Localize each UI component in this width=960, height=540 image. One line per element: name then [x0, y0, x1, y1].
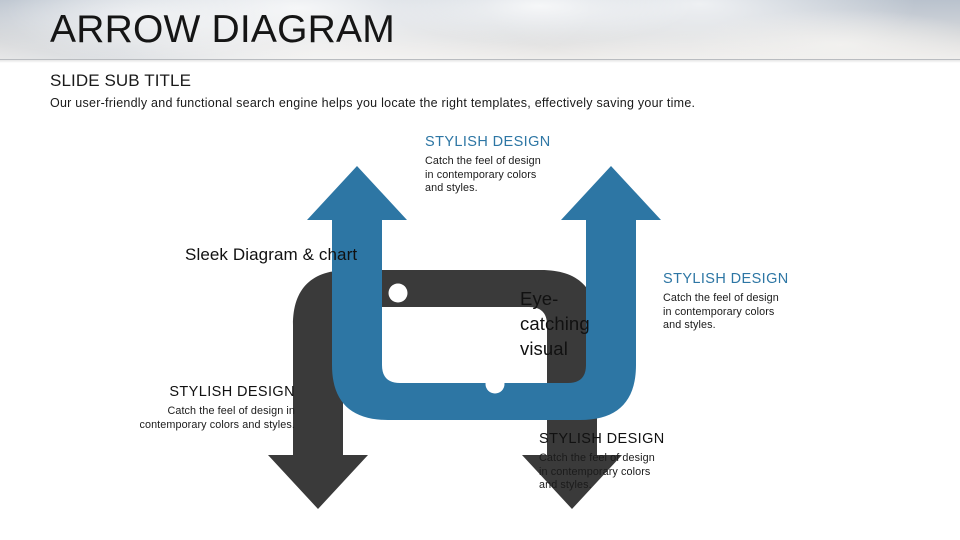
- label-eye-catching-visual: Eye-catching visual: [520, 286, 612, 361]
- callout-bottom-center-body: Catch the feel of design in contemporary…: [539, 452, 663, 493]
- node-lower: [486, 375, 505, 394]
- callout-top-left[interactable]: STYLISH DESIGN Catch the feel of design …: [425, 133, 551, 196]
- page-title: ARROW DIAGRAM: [50, 5, 395, 54]
- header-shadow: [0, 60, 960, 63]
- slide-root: ARROW DIAGRAM SLIDE SUB TITLE Our user-f…: [0, 0, 960, 540]
- callout-bottom-center-title: STYLISH DESIGN: [539, 430, 665, 449]
- label-sleek-diagram: Sleek Diagram & chart: [185, 244, 357, 266]
- callout-bottom-left[interactable]: STYLISH DESIGN Catch the feel of design …: [130, 383, 295, 432]
- callout-right-body: Catch the feel of design in contemporary…: [663, 292, 787, 333]
- cloud-decoration-right: [690, 10, 960, 60]
- callout-bottom-left-title: STYLISH DESIGN: [130, 383, 295, 402]
- cloud-decoration-center: [380, 0, 700, 46]
- callout-right[interactable]: STYLISH DESIGN Catch the feel of design …: [663, 270, 789, 333]
- callout-top-left-body: Catch the feel of design in contemporary…: [425, 155, 551, 196]
- callout-bottom-center[interactable]: STYLISH DESIGN Catch the feel of design …: [539, 430, 665, 493]
- slide-sub-title: SLIDE SUB TITLE: [50, 70, 191, 92]
- node-upper: [389, 284, 408, 303]
- callout-bottom-left-body: Catch the feel of design in contemporary…: [130, 405, 295, 432]
- callout-right-title: STYLISH DESIGN: [663, 270, 789, 289]
- callout-top-left-title: STYLISH DESIGN: [425, 133, 551, 152]
